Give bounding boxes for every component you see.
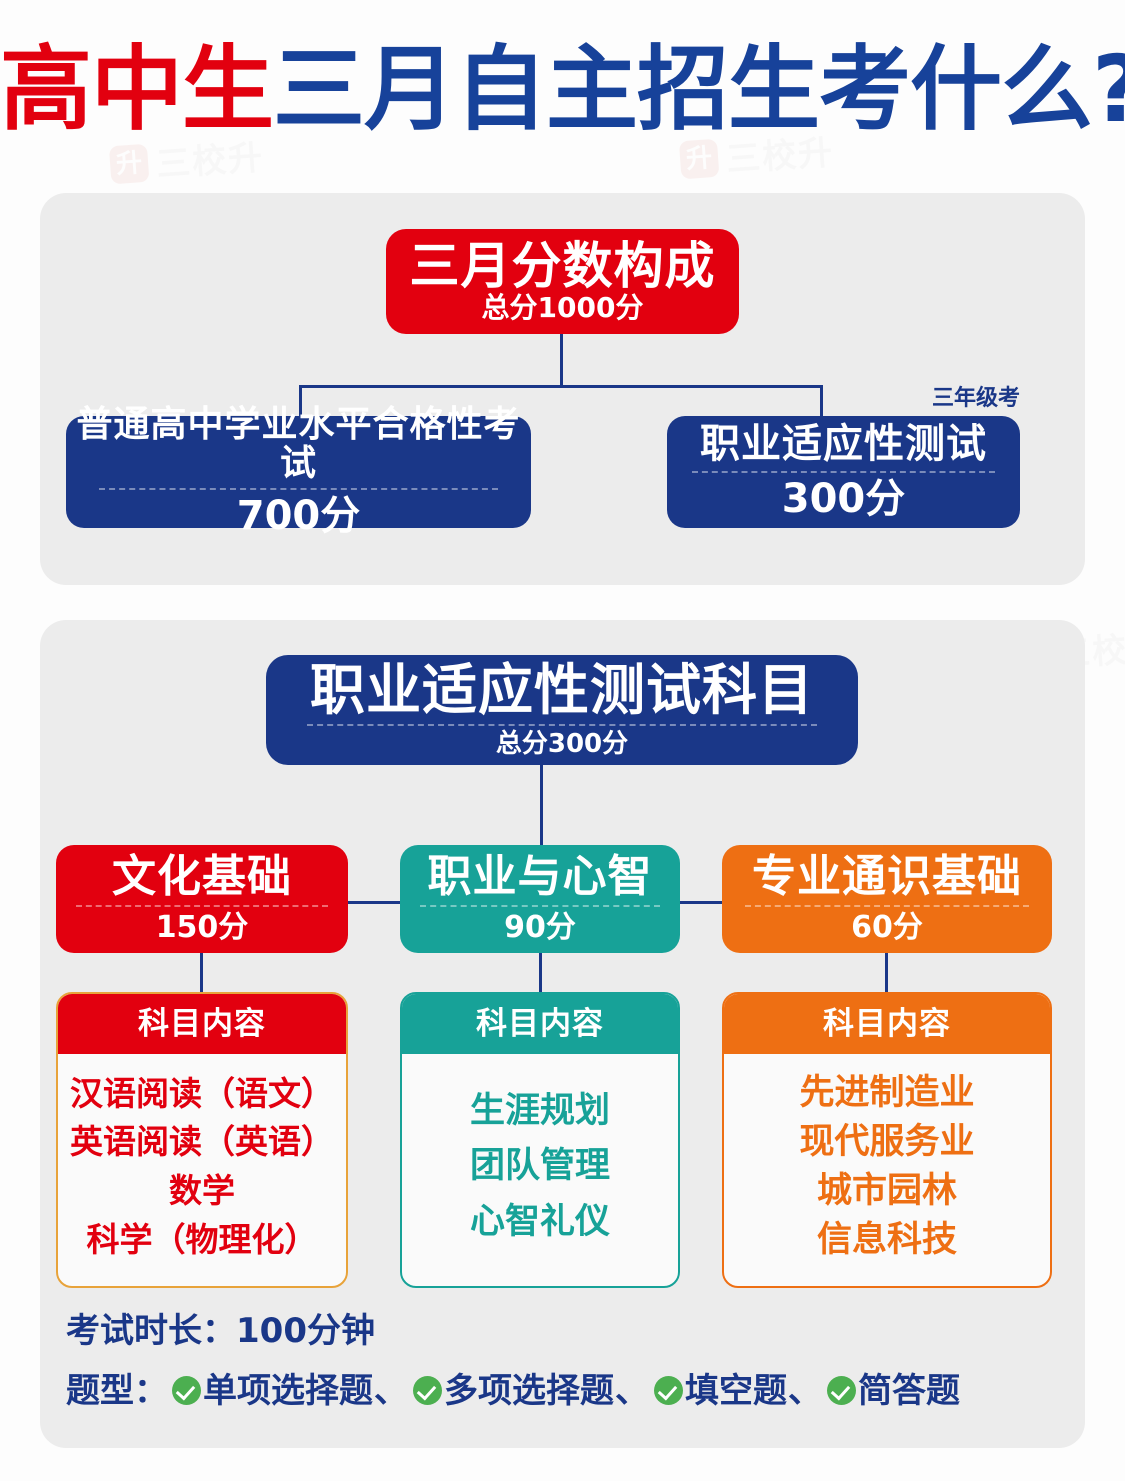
category-title: 专业通识基础: [752, 854, 1022, 901]
category-head-culture: 文化基础 150分: [56, 845, 348, 953]
grade-note: 三年级考: [870, 380, 1020, 412]
score-composition-subtitle: 总分1000分: [482, 293, 644, 324]
page-title-highlight: 高中生: [0, 36, 273, 143]
vocational-test-box: 职业适应性测试 300分: [667, 416, 1020, 528]
category-score: 60分: [851, 911, 923, 944]
watermark-badge: 升: [679, 138, 720, 179]
category-score: 150分: [156, 911, 249, 944]
separator: 、: [787, 1363, 823, 1412]
content-card-body: 生涯规划 团队管理 心智礼仪: [402, 1054, 678, 1286]
vocational-test-title: 职业适应性测试: [700, 423, 987, 465]
question-types-row: 题型： 单项选择题 、 多项选择题 、 填空题 、 简答题: [66, 1363, 960, 1412]
box-divider: [307, 724, 816, 726]
connector-v-culture: [200, 953, 203, 993]
box-divider: [420, 905, 661, 907]
exam-duration-text: 考试时长：100分钟: [66, 1303, 375, 1352]
connector-h-mind-major: [680, 901, 723, 904]
content-card-body: 汉语阅读（语文） 英语阅读（英语） 数学 科学（物理化）: [58, 1054, 346, 1286]
academic-exam-title: 普通高中学业水平合格性考试: [66, 406, 531, 482]
connector-vertical-right: [820, 385, 823, 418]
subjects-root-subtitle: 总分300分: [496, 730, 628, 759]
separator: 、: [373, 1363, 409, 1412]
score-composition-root: 三月分数构成 总分1000分: [386, 229, 739, 334]
list-item: 城市园林: [817, 1168, 957, 1215]
subjects-root-box: 职业适应性测试科目 总分300分: [266, 655, 858, 765]
check-circle-icon: [413, 1376, 442, 1405]
academic-exam-box: 普通高中学业水平合格性考试 700分: [66, 416, 531, 528]
list-item: 心智礼仪: [470, 1199, 610, 1246]
subjects-root-title: 职业适应性测试科目: [310, 661, 814, 719]
connector-v-major: [885, 953, 888, 993]
connector-h-culture-mind: [348, 901, 401, 904]
content-card-body: 先进制造业 现代服务业 城市园林 信息科技: [724, 1054, 1050, 1286]
separator: 、: [614, 1363, 650, 1412]
question-types-label: 题型：: [66, 1363, 168, 1412]
content-card-header: 科目内容: [402, 994, 678, 1054]
list-item: 现代服务业: [799, 1119, 974, 1166]
question-type-item: 简答题: [858, 1363, 960, 1412]
box-divider: [692, 471, 996, 473]
box-divider: [76, 905, 327, 907]
connector-vertical-main: [540, 765, 543, 847]
box-divider: [745, 905, 1029, 907]
list-item: 团队管理: [470, 1143, 610, 1190]
box-divider: [99, 488, 499, 490]
academic-exam-score: 700分: [237, 494, 361, 538]
category-head-major: 专业通识基础 60分: [722, 845, 1052, 953]
content-card-header: 科目内容: [58, 994, 346, 1054]
category-title: 职业与心智: [428, 854, 653, 901]
category-score: 90分: [504, 911, 576, 944]
question-type-item: 填空题: [685, 1363, 787, 1412]
content-card-header: 科目内容: [724, 994, 1050, 1054]
connector-vertical: [560, 334, 563, 386]
watermark-badge: 升: [109, 143, 150, 184]
page-title: 高中生三月自主招生考什么?: [0, 38, 1125, 142]
list-item: 生涯规划: [470, 1088, 610, 1135]
category-head-mind: 职业与心智 90分: [400, 845, 680, 953]
vocational-test-score: 300分: [782, 477, 906, 521]
list-item: 数学: [169, 1169, 235, 1214]
list-item: 汉语阅读（语文）: [70, 1072, 334, 1117]
list-item: 信息科技: [817, 1217, 957, 1264]
category-title: 文化基础: [112, 854, 292, 901]
score-composition-title: 三月分数构成: [410, 240, 716, 293]
question-type-item: 多项选择题: [444, 1363, 614, 1412]
question-type-item: 单项选择题: [203, 1363, 373, 1412]
check-circle-icon: [827, 1376, 856, 1405]
check-circle-icon: [172, 1376, 201, 1405]
page-title-main: 三月自主招生考什么?: [273, 36, 1125, 143]
list-item: 先进制造业: [799, 1070, 974, 1117]
infographic-page: 升 三校升 升 三校升 升 三校升 升 三校升 升 三校升 升 三校升 升 三校…: [0, 0, 1125, 1481]
connector-horizontal: [299, 385, 823, 388]
content-card-mind: 科目内容 生涯规划 团队管理 心智礼仪: [400, 992, 680, 1288]
list-item: 英语阅读（英语）: [70, 1120, 334, 1165]
list-item: 科学（物理化）: [87, 1218, 318, 1263]
connector-v-mind: [539, 953, 542, 993]
check-circle-icon: [654, 1376, 683, 1405]
content-card-culture: 科目内容 汉语阅读（语文） 英语阅读（英语） 数学 科学（物理化）: [56, 992, 348, 1288]
content-card-major: 科目内容 先进制造业 现代服务业 城市园林 信息科技: [722, 992, 1052, 1288]
